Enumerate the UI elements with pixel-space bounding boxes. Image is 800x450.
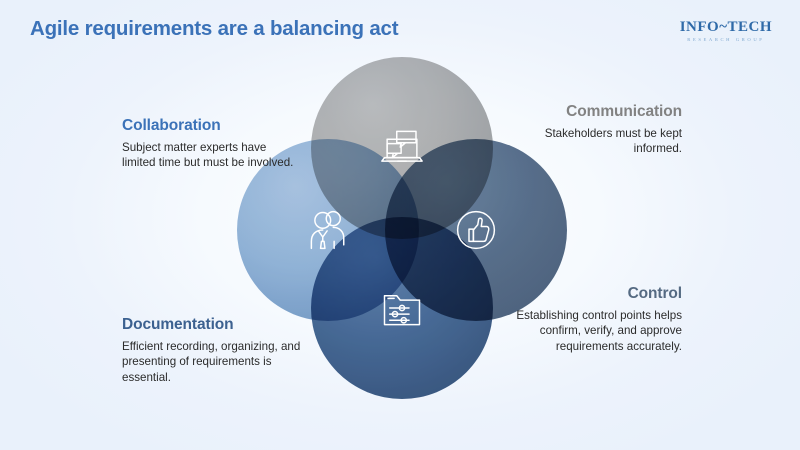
heading-communication: Communication: [497, 103, 682, 121]
heading-control: Control: [492, 285, 682, 303]
label-control: Control Establishing control points help…: [492, 285, 682, 354]
label-documentation: Documentation Efficient recording, organ…: [122, 316, 322, 385]
circle-documentation: [311, 217, 493, 399]
brand-logo: INFO~TECH RESEARCH GROUP: [680, 20, 772, 43]
body-documentation: Efficient recording, organizing, and pre…: [122, 339, 322, 385]
heading-collaboration: Collaboration: [122, 117, 300, 135]
label-collaboration: Collaboration Subject matter experts hav…: [122, 117, 300, 171]
body-communication: Stakeholders must be kept informed.: [497, 126, 682, 157]
body-control: Establishing control points helps confir…: [492, 308, 682, 354]
heading-documentation: Documentation: [122, 316, 322, 334]
body-collaboration: Subject matter experts have limited time…: [122, 140, 300, 171]
logo-wordmark: INFO~TECH: [680, 20, 772, 35]
slide-canvas: Agile requirements are a balancing act I…: [0, 0, 800, 450]
page-title: Agile requirements are a balancing act: [30, 17, 398, 41]
label-communication: Communication Stakeholders must be kept …: [497, 103, 682, 157]
logo-tagline: RESEARCH GROUP: [680, 38, 772, 43]
